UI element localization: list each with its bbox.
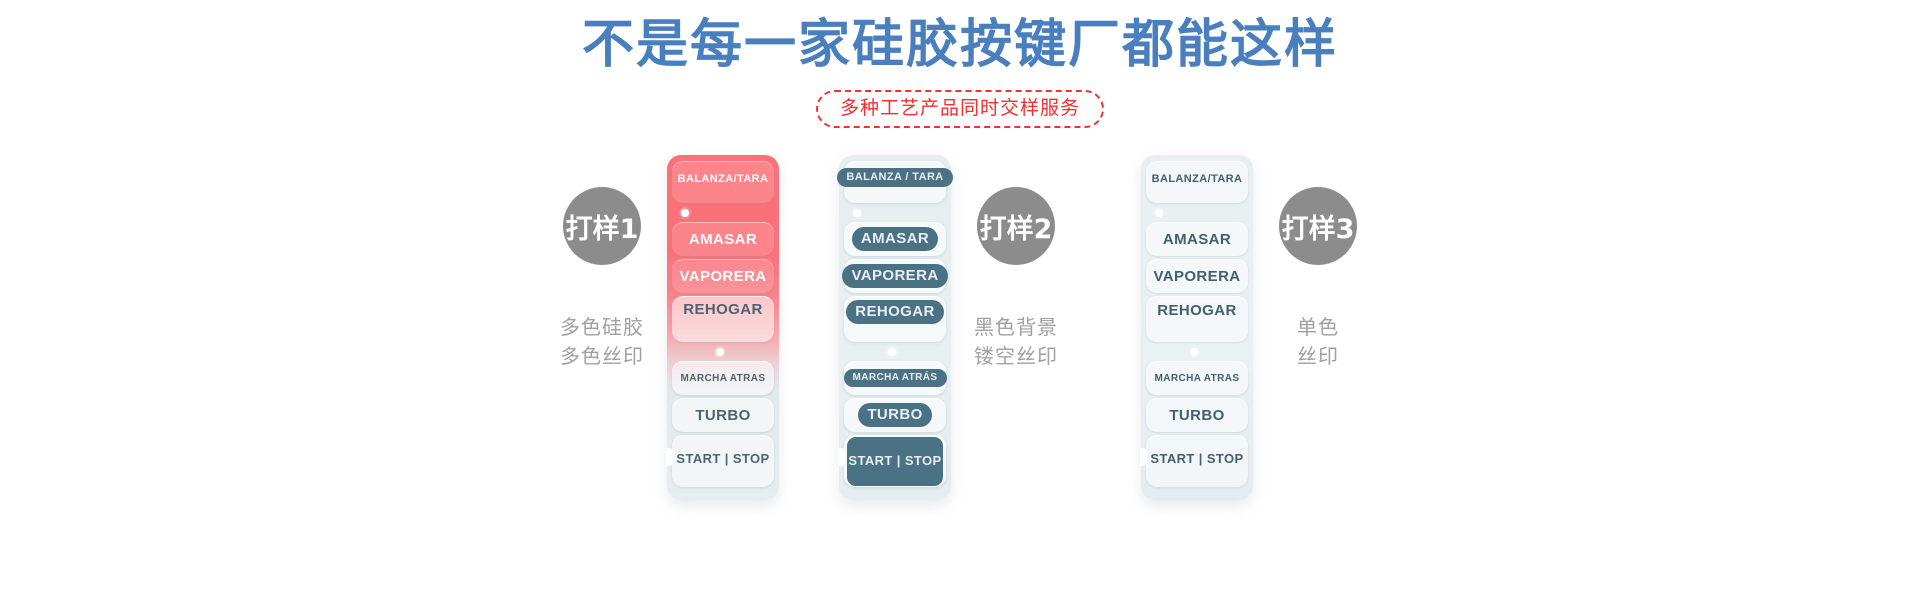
subtitle-badge: 多种工艺产品同时交样服务 <box>816 90 1104 128</box>
key-label: AMASAR <box>689 231 757 248</box>
key-label: REHOGAR <box>1157 302 1236 319</box>
key-label: MARCHA ATRAS <box>681 373 766 384</box>
key-label: START | STOP <box>676 451 769 466</box>
key-start-stop[interactable]: START | STOP <box>672 435 774 487</box>
key-marcha-atras[interactable]: MARCHA ATRAS <box>672 361 774 395</box>
key-label: REHOGAR <box>855 303 934 320</box>
key-balanza-tara[interactable]: BALANZA/TARA <box>1146 161 1248 203</box>
keypad-sample-2[interactable]: BALANZA / TARA AMASAR VAPORERA REHOGAR M… <box>839 155 951 500</box>
key-start-stop[interactable]: START | STOP <box>844 435 946 487</box>
sample-3-caption-line1: 单色 <box>1297 313 1339 342</box>
led-dot-icon <box>716 348 724 356</box>
key-rehogar[interactable]: REHOGAR <box>844 296 946 342</box>
key-label: VAPORERA <box>1153 268 1240 285</box>
key-vaporera[interactable]: VAPORERA <box>1146 259 1248 293</box>
sample-3-caption-line2: 丝印 <box>1297 342 1339 371</box>
key-label: TURBO <box>695 407 750 424</box>
key-vaporera[interactable]: VAPORERA <box>672 259 774 293</box>
sample-2-caption-line1: 黑色背景 <box>974 313 1058 342</box>
sample-3-caption: 单色 丝印 <box>1297 313 1339 371</box>
sample-2-label-column: 打样2 黑色背景 镂空丝印 <box>951 155 1081 371</box>
led-dot-icon <box>888 348 896 356</box>
sample-1-label-column: 打样1 多色硅胶 多色丝印 <box>537 155 667 371</box>
key-start-stop[interactable]: START | STOP <box>1146 435 1248 487</box>
indicator-row-mid <box>844 345 946 359</box>
led-dot-icon <box>853 209 861 217</box>
key-label: BALANZA/TARA <box>1152 173 1243 185</box>
key-label: AMASAR <box>861 230 929 247</box>
key-balanza-tara[interactable]: BALANZA/TARA <box>672 161 774 203</box>
key-label: START | STOP <box>1150 451 1243 466</box>
key-label: VAPORERA <box>679 268 766 285</box>
sample-2-caption-line2: 镂空丝印 <box>974 342 1058 371</box>
key-rehogar[interactable]: REHOGAR <box>1146 296 1248 342</box>
indicator-row-mid <box>1146 345 1248 359</box>
sample-3-badge: 打样3 <box>1279 187 1357 265</box>
page-title: 不是每一家硅胶按键厂都能这样 <box>0 16 1920 76</box>
sample-3-label-column: 打样3 单色 丝印 <box>1253 155 1383 371</box>
key-turbo[interactable]: TURBO <box>672 398 774 432</box>
led-dot-icon <box>1190 348 1198 356</box>
sample-2-badge: 打样2 <box>977 187 1055 265</box>
key-label: TURBO <box>1169 407 1224 424</box>
key-label: START | STOP <box>848 453 941 468</box>
key-amasar[interactable]: AMASAR <box>844 222 946 256</box>
sample-1-caption: 多色硅胶 多色丝印 <box>560 313 644 371</box>
indicator-row-top <box>844 206 946 220</box>
sample-group-3: BALANZA/TARA AMASAR VAPORERA REHOGAR MAR… <box>1141 155 1383 500</box>
key-label: AMASAR <box>1163 231 1231 248</box>
key-turbo[interactable]: TURBO <box>844 398 946 432</box>
subtitle-badge-wrap: 多种工艺产品同时交样服务 <box>0 90 1920 128</box>
key-label: BALANZA/TARA <box>678 173 769 185</box>
key-balanza-tara[interactable]: BALANZA / TARA <box>844 161 946 203</box>
indicator-row-top <box>1146 206 1248 220</box>
keypad-sample-3[interactable]: BALANZA/TARA AMASAR VAPORERA REHOGAR MAR… <box>1141 155 1253 500</box>
key-label: VAPORERA <box>851 267 938 284</box>
key-label: MARCHA ATRAS <box>1155 373 1240 384</box>
key-turbo[interactable]: TURBO <box>1146 398 1248 432</box>
page-header: 不是每一家硅胶按键厂都能这样 多种工艺产品同时交样服务 <box>0 0 1920 128</box>
sample-1-caption-line2: 多色丝印 <box>560 342 644 371</box>
key-rehogar[interactable]: REHOGAR <box>672 296 774 342</box>
sample-group-2: BALANZA / TARA AMASAR VAPORERA REHOGAR M… <box>839 155 1081 500</box>
sample-group-1: 打样1 多色硅胶 多色丝印 BALANZA/TARA AMASAR VAPORE… <box>537 155 779 500</box>
sample-2-caption: 黑色背景 镂空丝印 <box>974 313 1058 371</box>
sample-showcase: 打样1 多色硅胶 多色丝印 BALANZA/TARA AMASAR VAPORE… <box>0 155 1920 495</box>
key-label: REHOGAR <box>683 301 762 318</box>
led-dot-icon <box>681 209 689 217</box>
key-amasar[interactable]: AMASAR <box>672 222 774 256</box>
keypad-sample-1[interactable]: BALANZA/TARA AMASAR VAPORERA REHOGAR MAR… <box>667 155 779 500</box>
indicator-row-top <box>672 206 774 220</box>
key-vaporera[interactable]: VAPORERA <box>844 259 946 293</box>
key-amasar[interactable]: AMASAR <box>1146 222 1248 256</box>
sample-1-badge: 打样1 <box>563 187 641 265</box>
key-label: BALANZA / TARA <box>846 171 943 183</box>
indicator-row-mid <box>672 345 774 359</box>
key-label: TURBO <box>867 406 922 423</box>
key-label: MARCHA ATRÁS <box>853 372 938 383</box>
sample-1-caption-line1: 多色硅胶 <box>560 313 644 342</box>
key-marcha-atras[interactable]: MARCHA ATRÁS <box>844 361 946 395</box>
led-dot-icon <box>1155 209 1163 217</box>
key-marcha-atras[interactable]: MARCHA ATRAS <box>1146 361 1248 395</box>
